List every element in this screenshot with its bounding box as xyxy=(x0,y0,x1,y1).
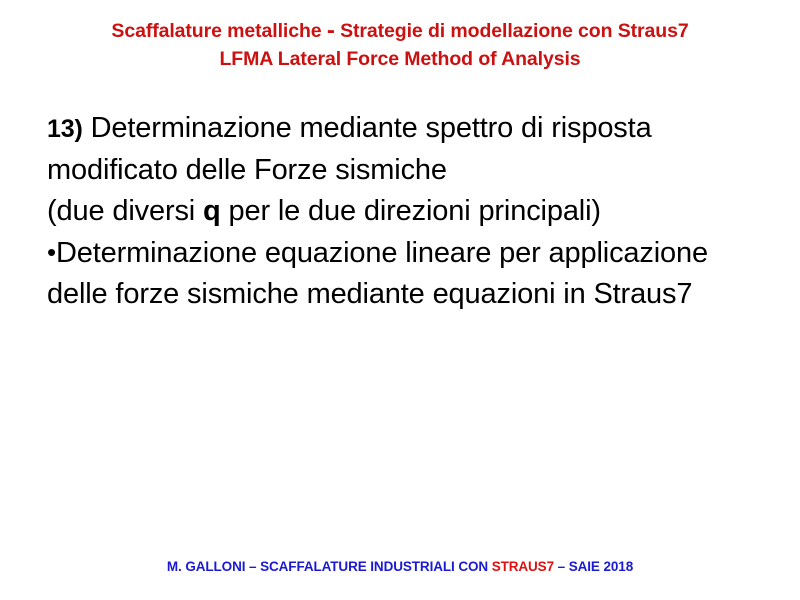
footer-accent-straus7: STRAUS7 xyxy=(492,559,554,574)
body-line-4-text: Determinazione equazione lineare per app… xyxy=(56,237,708,269)
body-line-5: delle forze sismiche mediante equazioni … xyxy=(47,274,777,315)
body-line-2: modificato delle Forze sismiche xyxy=(47,150,777,191)
body-item-number: 13) xyxy=(47,115,83,143)
bullet-icon: • xyxy=(47,237,56,267)
body-line-1: 13) Determinazione mediante spettro di r… xyxy=(47,108,777,150)
body-line-3-prefix: (due diversi xyxy=(47,195,203,227)
title-line-1-part-b: Strategie di modellazione con Straus7 xyxy=(335,20,689,42)
title-line-1: Scaffalature metalliche - Strategie di m… xyxy=(0,17,800,45)
title-dash: - xyxy=(327,17,335,44)
body-line-3: (due diversi q per le due direzioni prin… xyxy=(47,191,777,232)
slide-title: Scaffalature metalliche - Strategie di m… xyxy=(0,17,800,73)
body-line-3-suffix: per le due direzioni principali) xyxy=(221,195,601,227)
slide-footer: M. GALLONI – SCAFFALATURE INDUSTRIALI CO… xyxy=(0,559,800,574)
footer-part-1: M. GALLONI – SCAFFALATURE INDUSTRIALI CO… xyxy=(167,559,492,574)
body-line-1-text: Determinazione mediante spettro di rispo… xyxy=(83,112,652,144)
body-line-3-emphasis: q xyxy=(203,195,221,227)
body-line-4: •Determinazione equazione lineare per ap… xyxy=(47,232,777,274)
title-line-1-part-a: Scaffalature metalliche xyxy=(111,20,326,42)
presentation-slide: Scaffalature metalliche - Strategie di m… xyxy=(0,0,800,600)
footer-part-2: – SAIE 2018 xyxy=(554,559,633,574)
slide-body: 13) Determinazione mediante spettro di r… xyxy=(47,108,777,315)
title-line-2: LFMA Lateral Force Method of Analysis xyxy=(0,45,800,73)
